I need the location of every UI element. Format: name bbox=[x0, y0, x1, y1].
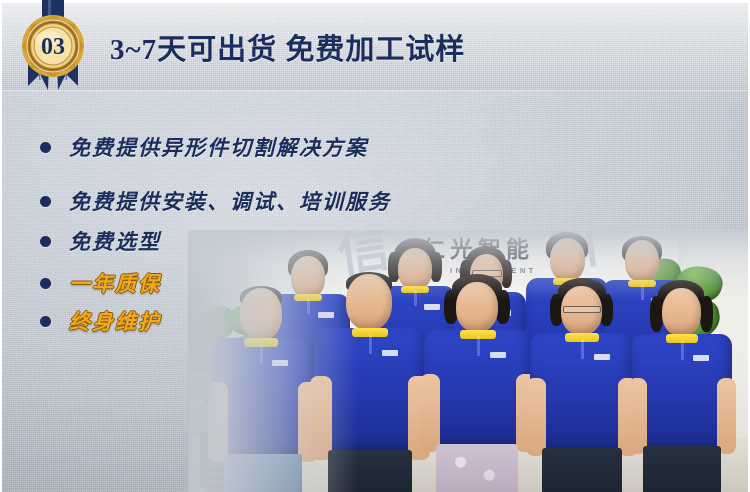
list-item: 免费选型 bbox=[40, 228, 470, 254]
list-item: 免费提供安装、调试、培训服务 bbox=[40, 188, 470, 214]
bullet-dot-icon bbox=[40, 196, 51, 207]
bullet-dot-icon bbox=[40, 142, 51, 153]
medal-badge: 03 bbox=[14, 0, 92, 94]
page-title: 3~7天可出货 免费加工试样 bbox=[110, 26, 465, 68]
promo-slide: 03 3~7天可出货 免费加工试样 信 叫 仁 bbox=[0, 0, 750, 492]
bullet-dot-icon bbox=[40, 278, 51, 289]
list-item-label: 免费提供安装、调试、培训服务 bbox=[69, 186, 391, 216]
list-item-label: 免费提供异形件切割解决方案 bbox=[69, 132, 368, 162]
feature-list: 免费提供异形件切割解决方案 免费提供安装、调试、培训服务 免费选型 一年质保 终… bbox=[40, 134, 470, 334]
person-front-4 bbox=[528, 278, 636, 492]
medal-icon: 03 bbox=[14, 0, 92, 94]
list-item: 终身维护 bbox=[40, 308, 470, 334]
bullet-dot-icon bbox=[40, 236, 51, 247]
list-item: 免费提供异形件切割解决方案 bbox=[40, 134, 470, 160]
list-item: 一年质保 bbox=[40, 270, 470, 296]
list-item-label: 免费选型 bbox=[69, 226, 161, 256]
medal-number: 03 bbox=[41, 34, 65, 60]
list-item-label: 一年质保 bbox=[69, 268, 161, 298]
bullet-dot-icon bbox=[40, 316, 51, 327]
person-front-5 bbox=[630, 280, 734, 492]
list-item-label: 终身维护 bbox=[69, 306, 161, 336]
